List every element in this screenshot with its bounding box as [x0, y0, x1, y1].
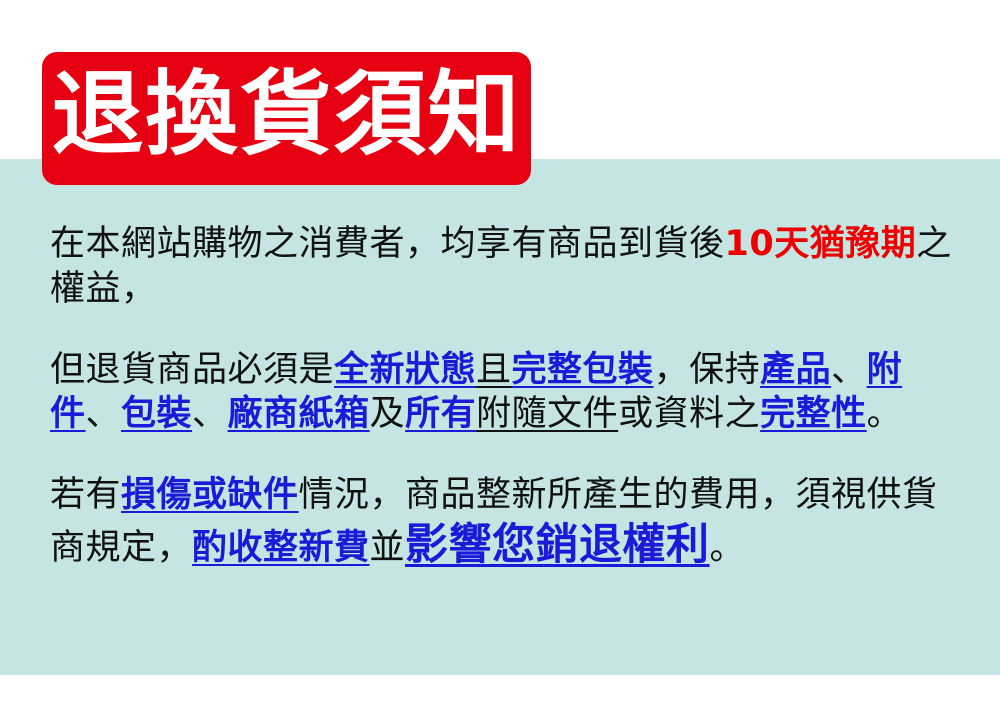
text-segment: 、	[192, 394, 228, 434]
text-segment: 廠商紙箱	[228, 394, 370, 434]
text-segment: 。	[710, 528, 746, 568]
policy-text-body: 在本網站購物之消費者，均享有商品到貨後10天猶豫期之權益， 但退貨商品必須是全新…	[50, 222, 962, 573]
text-segment: ，保持	[654, 350, 761, 390]
text-segment: 全新狀態	[334, 350, 476, 390]
text-segment: 產品	[760, 350, 831, 390]
text-segment: 完整包裝	[512, 350, 654, 390]
page-title: 退換貨須知	[52, 69, 522, 161]
text-segment: 影響您銷退權利	[405, 520, 710, 570]
text-segment: 10天猶豫期	[725, 224, 917, 264]
text-segment: 、	[86, 394, 122, 434]
text-segment: 酌收整新費	[192, 528, 370, 568]
return-policy-page: 退換貨須知 在本網站購物之消費者，均享有商品到貨後10天猶豫期之權益， 但退貨商…	[0, 0, 1000, 714]
text-segment: 包裝	[121, 394, 192, 434]
text-segment: 。	[867, 394, 903, 434]
policy-paragraph-2: 但退貨商品必須是全新狀態且完整包裝，保持產品、附件、包裝、廠商紙箱及所有附隨文件…	[50, 348, 962, 438]
policy-paragraph-3: 若有損傷或缺件情況，商品整新所產生的費用，須視供貨商規定，酌收整新費並影響您銷退…	[50, 473, 962, 573]
policy-paragraph-1: 在本網站購物之消費者，均享有商品到貨後10天猶豫期之權益，	[50, 222, 962, 312]
text-segment: 或資料之	[618, 394, 760, 434]
title-badge: 退換貨須知	[42, 52, 531, 185]
text-segment: 且	[476, 350, 512, 390]
text-segment: 、	[831, 350, 867, 390]
text-segment: 及	[370, 394, 406, 434]
text-segment: 附隨文件	[476, 394, 618, 434]
text-segment: 在本網站購物之消費者，均享有商品到貨後	[50, 224, 725, 264]
text-segment: 完整性	[760, 394, 867, 434]
text-segment: 並	[370, 528, 406, 568]
text-segment: 但退貨商品必須是	[50, 350, 334, 390]
text-segment: 損傷或缺件	[121, 475, 299, 515]
text-segment: 所有	[405, 394, 476, 434]
text-segment: 若有	[50, 475, 121, 515]
